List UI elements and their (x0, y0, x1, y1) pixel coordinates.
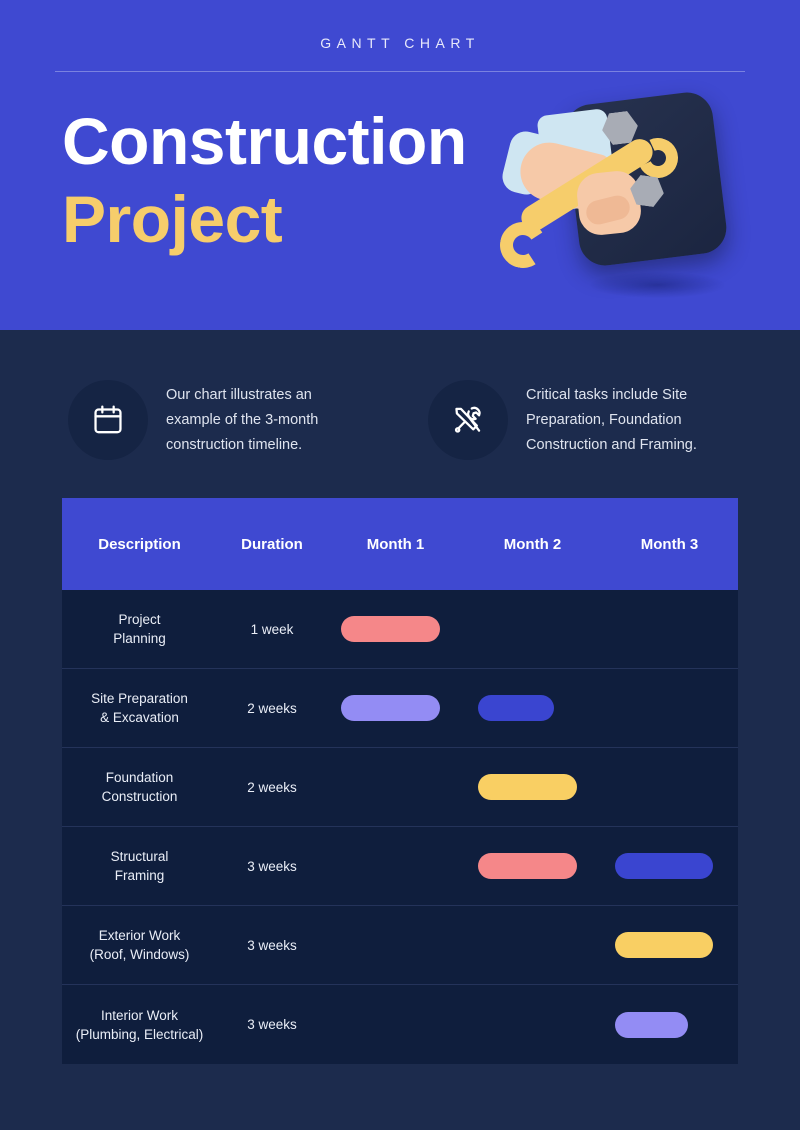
task-description-line-2: (Roof, Windows) (62, 945, 217, 964)
info-text-timeline: Our chart illustrates an example of the … (166, 383, 366, 458)
kicker-label: GANTT CHART (0, 35, 800, 51)
gantt-cell-month-3 (601, 985, 738, 1064)
gantt-bar[interactable] (615, 853, 713, 879)
task-description: ProjectPlanning (62, 610, 217, 648)
hand-holding-wrench-illustration (490, 80, 750, 320)
gantt-bar[interactable] (615, 1012, 688, 1038)
task-description: FoundationConstruction (62, 768, 217, 806)
gantt-cell-month-3 (601, 906, 738, 984)
title-line-2: Project (62, 186, 467, 252)
column-header-description: Description (62, 536, 217, 553)
illustration-shadow (590, 272, 725, 298)
info-text-critical-tasks: Critical tasks include Site Preparation,… (526, 383, 726, 458)
gantt-chart-infographic: GANTT CHART Construction Project (0, 0, 800, 1130)
task-description-line-2: & Excavation (62, 708, 217, 727)
gantt-cell-month-2 (464, 827, 601, 905)
task-description-line-1: Exterior Work (62, 926, 217, 945)
gantt-cell-month-2 (464, 590, 601, 668)
task-description-line-1: Structural (62, 847, 217, 866)
table-row: Interior Work(Plumbing, Electrical)3 wee… (62, 985, 738, 1064)
calendar-icon-circle (68, 380, 148, 460)
task-duration: 3 weeks (217, 1017, 327, 1032)
gantt-cell-month-1 (327, 985, 464, 1064)
page-title: Construction Project (62, 108, 467, 252)
gantt-cell-month-1 (327, 669, 464, 747)
task-description-line-2: (Plumbing, Electrical) (62, 1025, 217, 1044)
table-row: FoundationConstruction2 weeks (62, 748, 738, 827)
column-header-duration: Duration (217, 536, 327, 553)
gantt-cell-month-2 (464, 669, 601, 747)
task-description: Interior Work(Plumbing, Electrical) (62, 1006, 217, 1044)
task-description-line-2: Framing (62, 866, 217, 885)
gantt-cell-month-1 (327, 906, 464, 984)
task-duration: 3 weeks (217, 859, 327, 874)
gantt-cell-month-3 (601, 669, 738, 747)
task-duration: 1 week (217, 622, 327, 637)
table-row: Exterior Work(Roof, Windows)3 weeks (62, 906, 738, 985)
info-block-timeline: Our chart illustrates an example of the … (68, 380, 398, 460)
info-block-critical-tasks: Critical tasks include Site Preparation,… (428, 380, 758, 460)
task-description: StructuralFraming (62, 847, 217, 885)
gantt-cell-month-2 (464, 906, 601, 984)
gantt-bar[interactable] (341, 616, 440, 642)
title-line-1: Construction (62, 108, 467, 174)
task-duration: 2 weeks (217, 780, 327, 795)
table-body: ProjectPlanning1 weekSite Preparation& E… (62, 590, 738, 1064)
gantt-cell-month-3 (601, 827, 738, 905)
gantt-bar[interactable] (615, 932, 713, 958)
task-description-line-2: Planning (62, 629, 217, 648)
gantt-bar[interactable] (478, 853, 577, 879)
column-header-month-1: Month 1 (327, 536, 464, 553)
task-description: Exterior Work(Roof, Windows) (62, 926, 217, 964)
task-description: Site Preparation& Excavation (62, 689, 217, 727)
gantt-cell-month-1 (327, 827, 464, 905)
tools-icon-circle (428, 380, 508, 460)
tools-icon (450, 402, 486, 438)
gantt-cell-month-2 (464, 985, 601, 1064)
gantt-bar[interactable] (341, 695, 440, 721)
table-row: StructuralFraming3 weeks (62, 827, 738, 906)
gantt-table: Description Duration Month 1 Month 2 Mon… (62, 498, 738, 1064)
column-header-month-3: Month 3 (601, 536, 738, 553)
hero-section: GANTT CHART Construction Project (0, 0, 800, 330)
table-row: Site Preparation& Excavation2 weeks (62, 669, 738, 748)
gantt-cell-month-1 (327, 748, 464, 826)
task-description-line-1: Site Preparation (62, 689, 217, 708)
gantt-bar[interactable] (478, 695, 554, 721)
gantt-cell-month-1 (327, 590, 464, 668)
kicker-divider (55, 71, 745, 72)
gantt-cell-month-2 (464, 748, 601, 826)
calendar-icon (91, 403, 125, 437)
task-description-line-1: Interior Work (62, 1006, 217, 1025)
info-strip: Our chart illustrates an example of the … (0, 330, 800, 498)
task-description-line-2: Construction (62, 787, 217, 806)
gantt-cell-month-3 (601, 748, 738, 826)
task-description-line-1: Foundation (62, 768, 217, 787)
task-duration: 2 weeks (217, 701, 327, 716)
gantt-cell-month-3 (601, 590, 738, 668)
gantt-bar[interactable] (478, 774, 577, 800)
task-duration: 3 weeks (217, 938, 327, 953)
table-row: ProjectPlanning1 week (62, 590, 738, 669)
task-description-line-1: Project (62, 610, 217, 629)
column-header-month-2: Month 2 (464, 536, 601, 553)
table-header-row: Description Duration Month 1 Month 2 Mon… (62, 498, 738, 590)
